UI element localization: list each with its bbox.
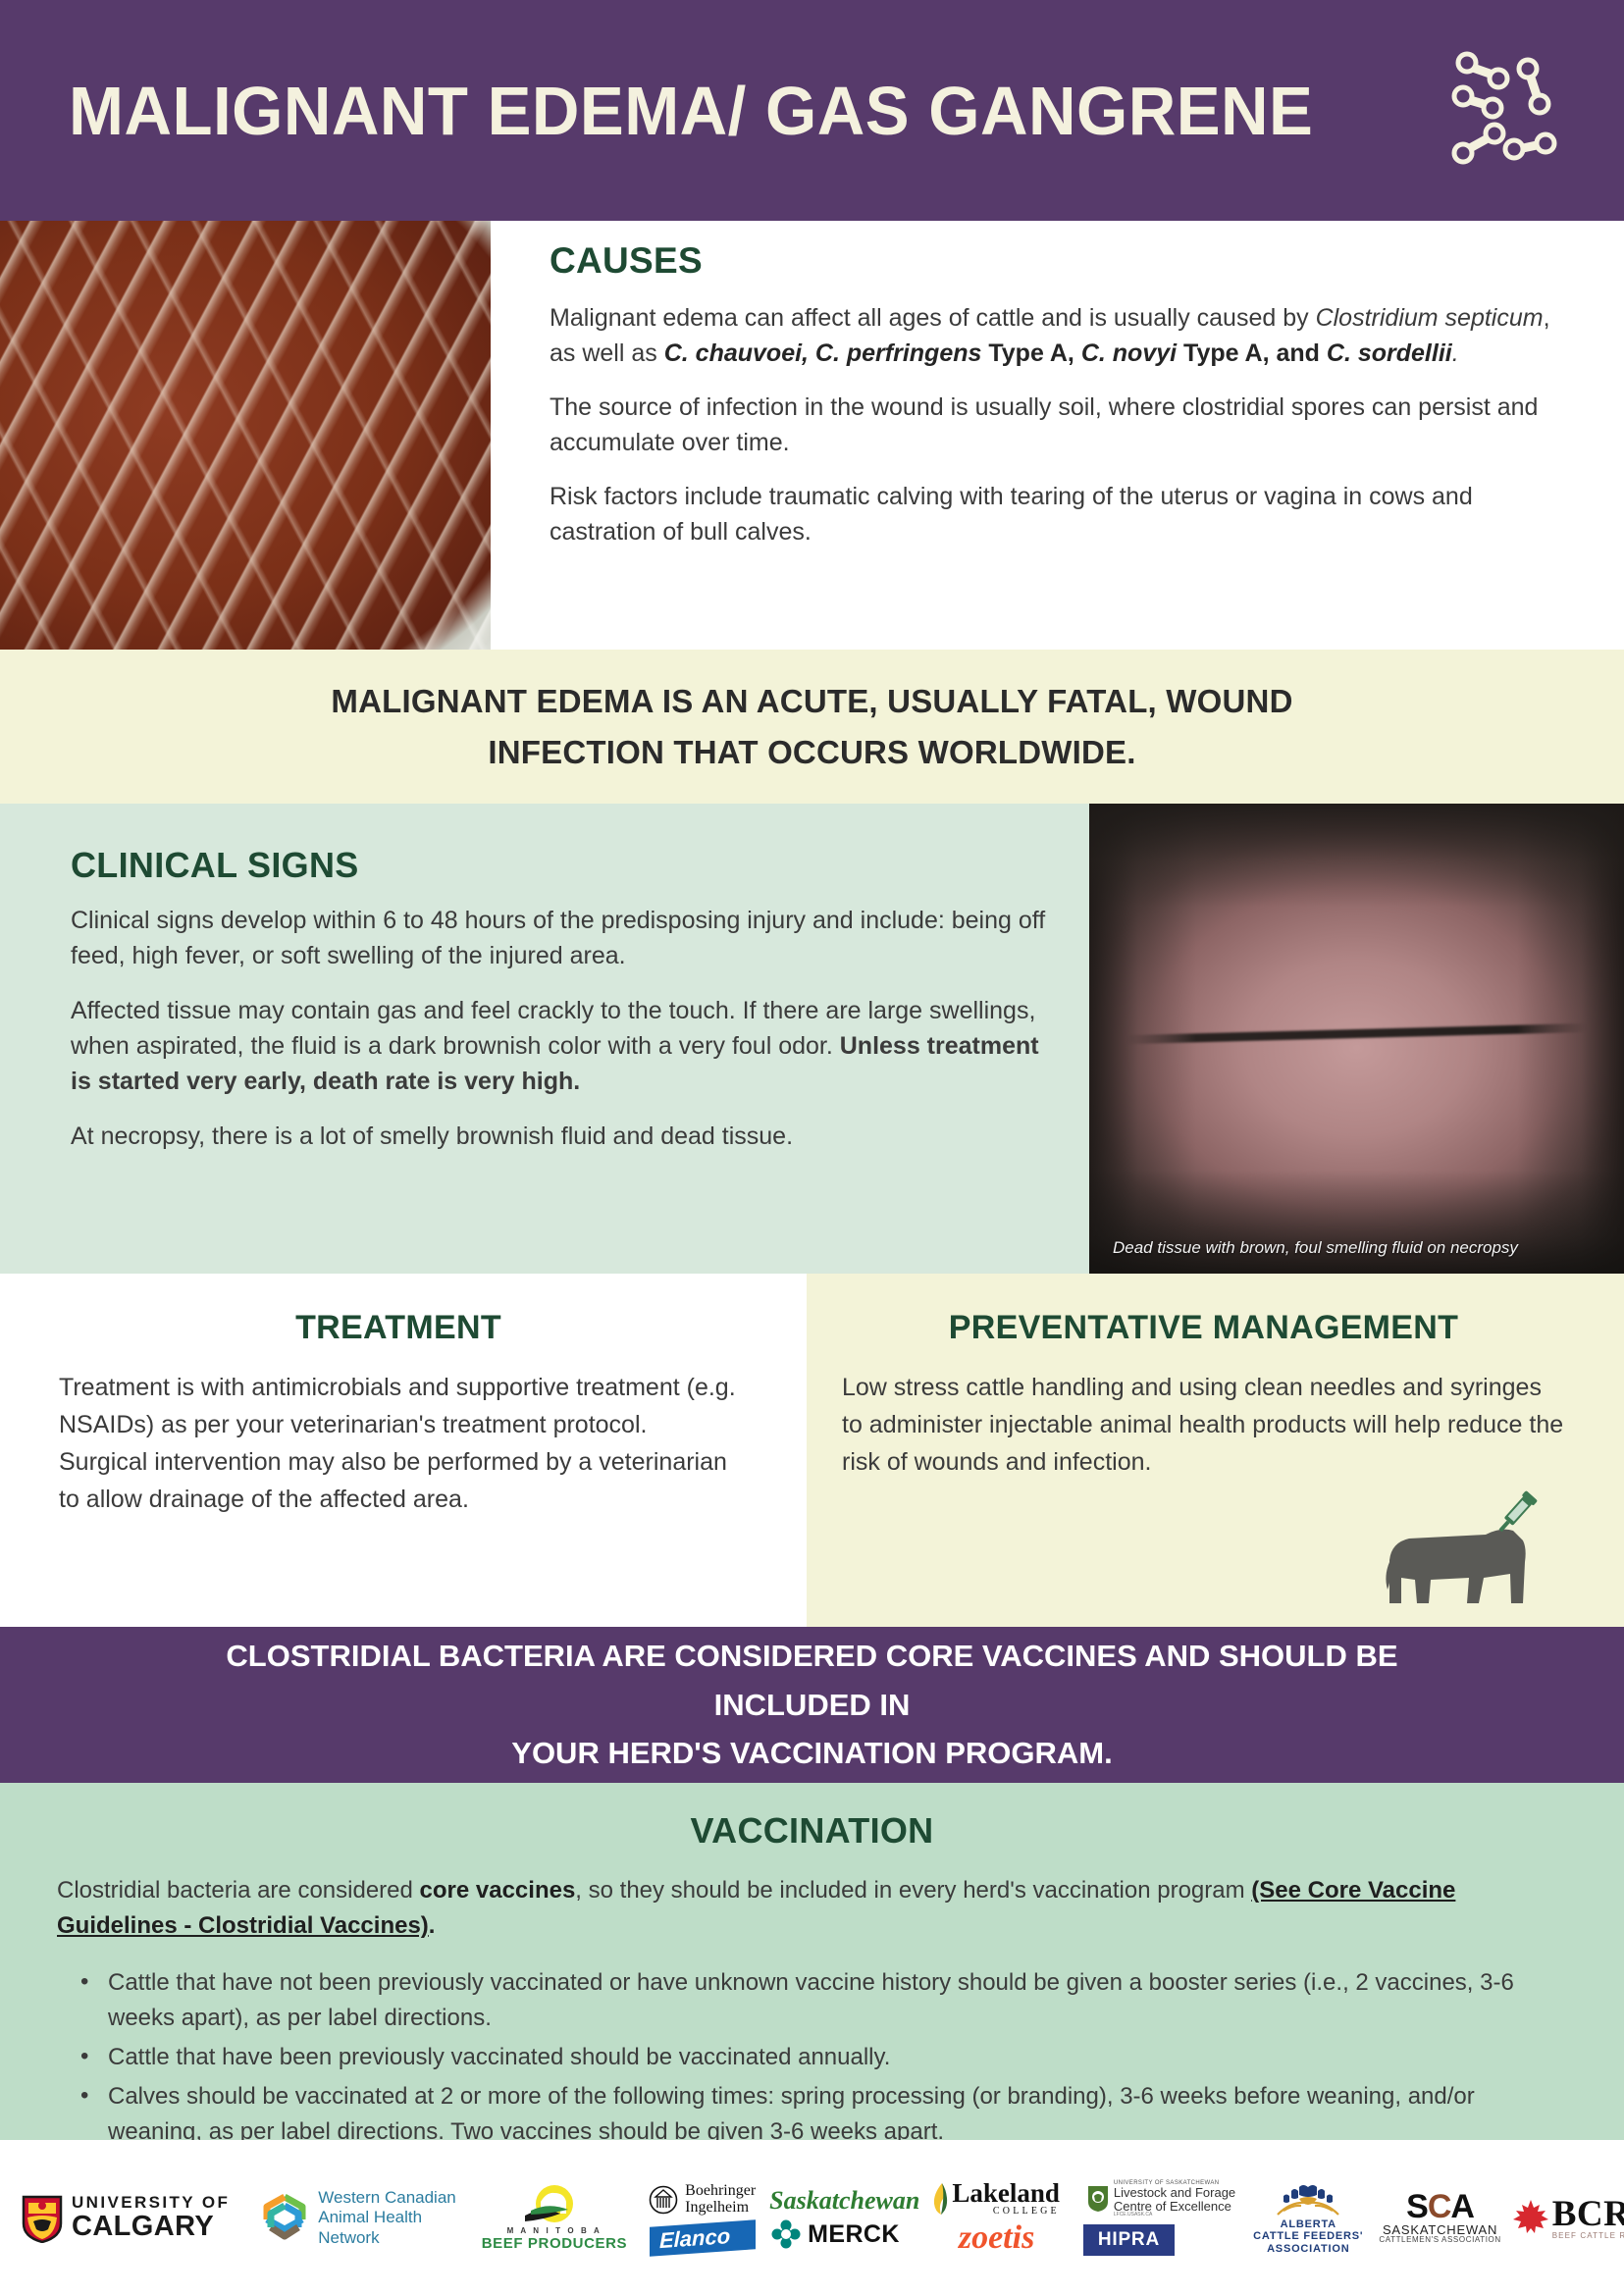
merck-wordmark: MERCK <box>808 2221 900 2247</box>
blood-agar-plate-photo <box>0 221 491 650</box>
sun-and-cow-icon <box>521 2184 588 2227</box>
clinical-signs-heading: CLINICAL SIGNS <box>71 845 1062 886</box>
sponsor-logo-footer: UNIVERSITY OF CALGARY Weste <box>0 2140 1624 2296</box>
fatal-wound-banner: MALIGNANT EDEMA IS AN ACUTE, USUALLY FAT… <box>0 650 1624 804</box>
causes-section: CAUSES Malignant edema can affect all ag… <box>0 221 1624 650</box>
vacc-intro-bold: core vaccines <box>420 1877 576 1904</box>
clinical-signs-section: CLINICAL SIGNS Clinical signs develop wi… <box>0 804 1624 1274</box>
logo-group-lakeland-zoetis: Lakeland COLLEGE zoetis <box>919 2180 1060 2256</box>
vaccination-intro: Clostridial bacteria are considered core… <box>57 1873 1567 1944</box>
preventative-heading: PREVENTATIVE MANAGEMENT <box>842 1309 1565 1347</box>
purple-banner-text: CLOSTRIDIAL BACTERIA ARE CONSIDERED CORE… <box>209 1632 1416 1778</box>
logo-merck: MERCK <box>771 2219 900 2249</box>
banner-line-2: INFECTION THAT OCCURS WORLDWIDE. <box>488 727 1135 777</box>
acfa-wordmark: ALBERTA CATTLE FEEDERS' ASSOCIATION <box>1253 2218 1363 2256</box>
bcrc-line-1: BCRC <box>1552 2196 1624 2232</box>
causes-heading: CAUSES <box>550 240 1560 282</box>
list-item: Cattle that have not been previously vac… <box>75 1965 1567 2036</box>
clinical-paragraph-3: At necropsy, there is a lot of smelly br… <box>71 1119 1062 1154</box>
vaccination-section: VACCINATION Clostridial bacteria are con… <box>0 1783 1624 2140</box>
purple-banner-line-2: YOUR HERD'S VACCINATION PROGRAM. <box>209 1729 1416 1778</box>
mbp-wordmark: M A N I T O B A BEEF PRODUCERS <box>482 2227 627 2251</box>
boehringer-building-icon <box>649 2185 678 2215</box>
logo-zoetis: zoetis <box>959 2220 1034 2256</box>
lakeland-line-2: COLLEGE <box>952 2207 1060 2218</box>
wcahn-wordmark: Western Canadian Animal Health Network <box>318 2188 456 2247</box>
logo-group-boehringer-elanco: Boehringer Ingelheim Elanco <box>649 2183 756 2253</box>
usask-shield-icon <box>1087 2185 1109 2213</box>
logo-western-canadian-animal-health-network: Western Canadian Animal Health Network <box>259 2188 456 2247</box>
logo-usask-livestock-forage-centre: UNIVERSITY OF SASKATCHEWAN Livestock and… <box>1087 2180 1235 2218</box>
necropsy-dead-tissue-photo: Dead tissue with brown, foul smelling fl… <box>1089 804 1624 1274</box>
bacteria-icon <box>1449 47 1557 165</box>
logo-lakeland-college: Lakeland COLLEGE <box>929 2180 1060 2218</box>
logo-manitoba-beef-producers: M A N I T O B A BEEF PRODUCERS <box>482 2184 627 2251</box>
sca-monogram: SCA <box>1379 2191 1500 2222</box>
causes-text-block: CAUSES Malignant edema can affect all ag… <box>550 240 1560 569</box>
vaccination-heading: VACCINATION <box>57 1810 1567 1852</box>
purple-banner-line-1: CLOSTRIDIAL BACTERIA ARE CONSIDERED CORE… <box>209 1632 1416 1729</box>
treatment-body: Treatment is with antimicrobials and sup… <box>59 1369 738 1518</box>
boehringer-line-1: Boehringer <box>685 2183 756 2200</box>
calgary-line-2: CALGARY <box>72 2212 230 2241</box>
preventative-column: PREVENTATIVE MANAGEMENT Low stress cattl… <box>807 1274 1624 1627</box>
infographic-page: MALIGNANT EDEMA/ GAS GANGRENE <box>0 0 1624 2296</box>
sca-line-3: CATTLEMEN'S ASSOCIATION <box>1379 2236 1500 2244</box>
acfa-line-3: ASSOCIATION <box>1253 2243 1363 2256</box>
treatment-heading: TREATMENT <box>59 1309 738 1347</box>
vacc-intro-pre: Clostridial bacteria are considered <box>57 1877 420 1904</box>
clinical-text-block: CLINICAL SIGNS Clinical signs develop wi… <box>71 845 1062 1174</box>
wcahn-line-3: Network <box>318 2228 456 2248</box>
logo-elanco: Elanco <box>650 2219 756 2257</box>
usask-line-2: Centre of Excellence <box>1114 2200 1235 2214</box>
logo-saskatchewan: Saskatchewan <box>769 2187 919 2214</box>
lakeland-wordmark: Lakeland COLLEGE <box>952 2180 1060 2218</box>
wcahn-line-1: Western Canadian <box>318 2188 456 2208</box>
vacc-intro-mid: , so they should be included in every he… <box>575 1877 1251 1904</box>
acfa-line-2: CATTLE FEEDERS' <box>1253 2230 1363 2243</box>
usask-line-1: Livestock and Forage <box>1114 2186 1235 2200</box>
list-item: Cattle that have been previously vaccina… <box>75 2040 1567 2075</box>
logo-saskatchewan-cattlemens-association: SCA SASKATCHEWAN CATTLEMEN'S ASSOCIATION <box>1379 2191 1500 2244</box>
bcrc-wordmark: BCRC BEEF CATTLE RESEARCH COUNCIL <box>1552 2196 1624 2240</box>
clinical-paragraph-2: Affected tissue may contain gas and feel… <box>71 993 1062 1099</box>
interlocking-hexagon-icon <box>259 2192 310 2243</box>
acfa-line-1: ALBERTA <box>1253 2218 1363 2231</box>
lakeland-line-1: Lakeland <box>952 2180 1060 2207</box>
usask-wordmark: UNIVERSITY OF SASKATCHEWAN Livestock and… <box>1114 2180 1235 2218</box>
logo-boehringer-ingelheim: Boehringer Ingelheim <box>649 2183 756 2217</box>
boehringer-line-2: Ingelheim <box>685 2200 756 2217</box>
page-title: MALIGNANT EDEMA/ GAS GANGRENE <box>69 77 1313 145</box>
treatment-prevention-section: TREATMENT Treatment is with antimicrobia… <box>0 1274 1624 1627</box>
cattle-and-wheat-icon <box>1270 2181 1346 2218</box>
photo-caption: Dead tissue with brown, foul smelling fl… <box>1113 1238 1518 1258</box>
boehringer-wordmark: Boehringer Ingelheim <box>685 2183 756 2217</box>
clinical-paragraph-1: Clinical signs develop within 6 to 48 ho… <box>71 903 1062 973</box>
preventative-body: Low stress cattle handling and using cle… <box>842 1369 1565 1481</box>
cow-with-syringe-icon <box>1376 1487 1547 1605</box>
bcrc-line-2: BEEF CATTLE RESEARCH COUNCIL <box>1552 2232 1624 2240</box>
vacc-intro-post: . <box>429 1912 436 1939</box>
logo-bcrc: BCRC BEEF CATTLE RESEARCH COUNCIL <box>1511 2196 1624 2240</box>
calgary-shield-icon <box>22 2194 63 2243</box>
causes-paragraph-3: Risk factors include traumatic calving w… <box>550 480 1560 549</box>
logo-group-usask-hipra: UNIVERSITY OF SASKATCHEWAN Livestock and… <box>1074 2180 1235 2257</box>
logo-alberta-cattle-feeders-association: ALBERTA CATTLE FEEDERS' ASSOCIATION <box>1253 2181 1363 2256</box>
maple-leaf-icon <box>1511 2198 1550 2237</box>
logo-university-of-calgary: UNIVERSITY OF CALGARY <box>22 2194 230 2243</box>
lakeland-flame-icon <box>929 2182 949 2216</box>
banner-line-1: MALIGNANT EDEMA IS AN ACUTE, USUALLY FAT… <box>331 676 1292 726</box>
logo-hipra: HIPRA <box>1083 2224 1175 2256</box>
core-vaccine-banner: CLOSTRIDIAL BACTERIA ARE CONSIDERED CORE… <box>0 1627 1624 1783</box>
mbp-line-2: BEEF PRODUCERS <box>482 2236 627 2252</box>
vaccination-bullet-list: Cattle that have not been previously vac… <box>57 1965 1567 2150</box>
usask-line-3: LFCE.USASK.CA <box>1114 2213 1235 2218</box>
logo-group-sask-merck: Saskatchewan MERCK <box>756 2187 919 2249</box>
sca-line-2: SASKATCHEWAN <box>1379 2223 1500 2237</box>
causes-paragraph-1: Malignant edema can affect all ages of c… <box>550 301 1560 371</box>
treatment-column: TREATMENT Treatment is with antimicrobia… <box>0 1274 807 1627</box>
page-header: MALIGNANT EDEMA/ GAS GANGRENE <box>0 0 1624 221</box>
merck-clover-icon <box>771 2219 801 2249</box>
sca-o-glyph: C <box>1428 2188 1451 2225</box>
calgary-line-1: UNIVERSITY OF <box>72 2194 230 2212</box>
calgary-wordmark: UNIVERSITY OF CALGARY <box>72 2194 230 2241</box>
causes-paragraph-2: The source of infection in the wound is … <box>550 391 1560 460</box>
wcahn-line-2: Animal Health <box>318 2208 456 2227</box>
